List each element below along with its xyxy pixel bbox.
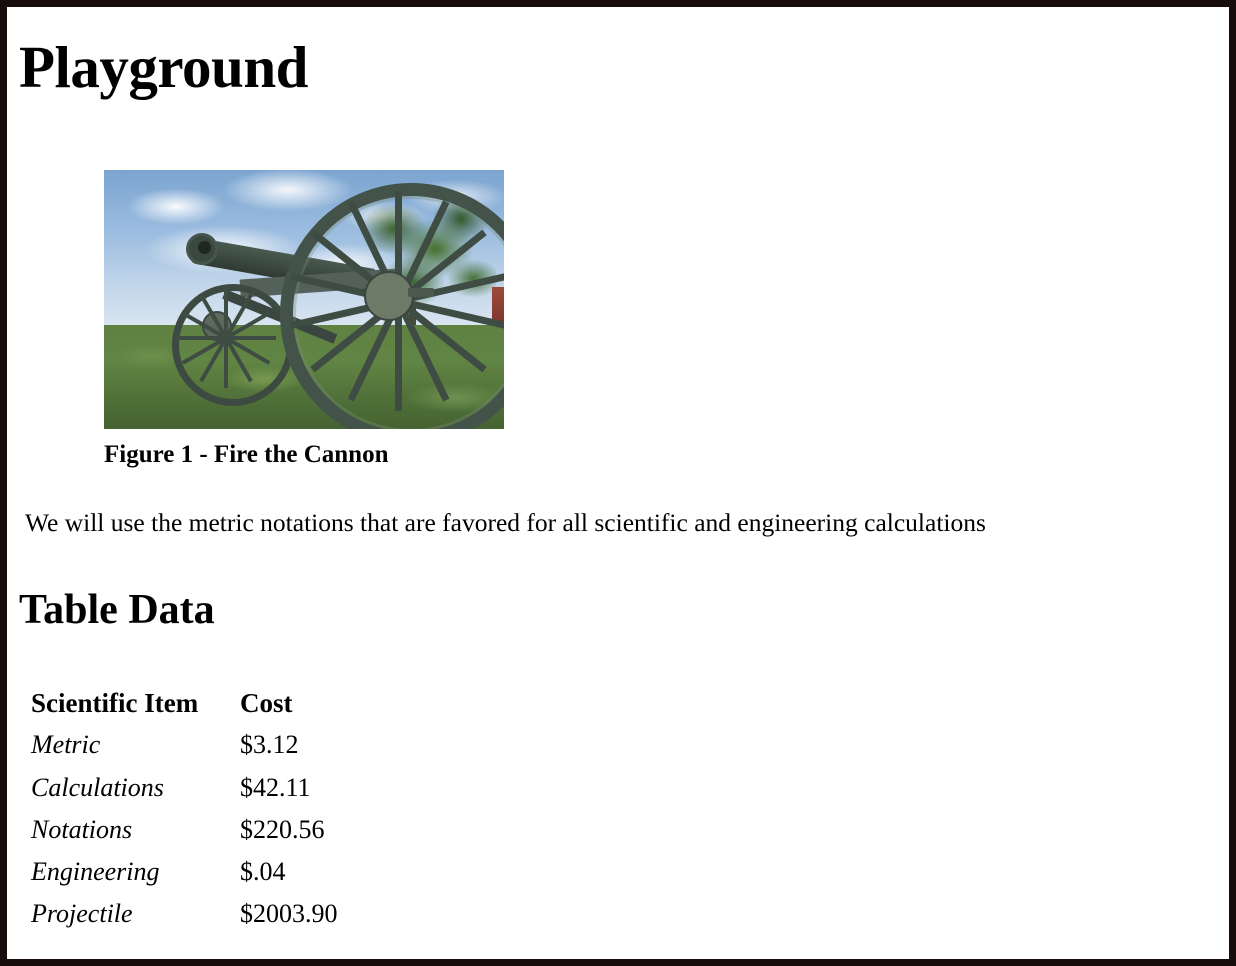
table-data-heading: Table Data (19, 587, 215, 633)
cell-cost: $42.11 (240, 767, 338, 809)
cannon-hub-near (364, 271, 414, 321)
cell-item: Engineering (31, 851, 240, 893)
table-row: Notations$220.56 (31, 809, 338, 851)
cell-item: Projectile (31, 893, 240, 935)
figure-block: Figure 1 - Fire the Cannon (104, 170, 504, 469)
column-header-cost: Cost (240, 687, 338, 724)
intro-paragraph: We will use the metric notations that ar… (25, 507, 986, 539)
cell-cost: $.04 (240, 851, 338, 893)
cell-item: Metric (31, 724, 240, 766)
cannon-photo (104, 170, 504, 429)
cell-item: Notations (31, 809, 240, 851)
cannon-axle (408, 288, 434, 297)
table-row: Metric$3.12 (31, 724, 338, 766)
table-row: Engineering$.04 (31, 851, 338, 893)
table-body: Metric$3.12Calculations$42.11Notations$2… (31, 724, 338, 935)
cannon-wheel-far (172, 284, 294, 406)
table-header-row: Scientific Item Cost (31, 687, 338, 724)
scientific-items-table: Scientific Item Cost Metric$3.12Calculat… (31, 687, 338, 935)
figure-caption: Figure 1 - Fire the Cannon (104, 441, 504, 469)
wheel-spoke (224, 338, 228, 388)
page-frame: Playground Figure (0, 0, 1236, 966)
table-header: Scientific Item Cost (31, 687, 338, 724)
table-row: Calculations$42.11 (31, 767, 338, 809)
cell-cost: $2003.90 (240, 893, 338, 935)
cell-cost: $220.56 (240, 809, 338, 851)
page-title: Playground (19, 37, 308, 99)
cell-item: Calculations (31, 767, 240, 809)
cell-cost: $3.12 (240, 724, 338, 766)
table-row: Projectile$2003.90 (31, 893, 338, 935)
column-header-item: Scientific Item (31, 687, 240, 724)
document-body: Playground Figure (7, 7, 1229, 959)
